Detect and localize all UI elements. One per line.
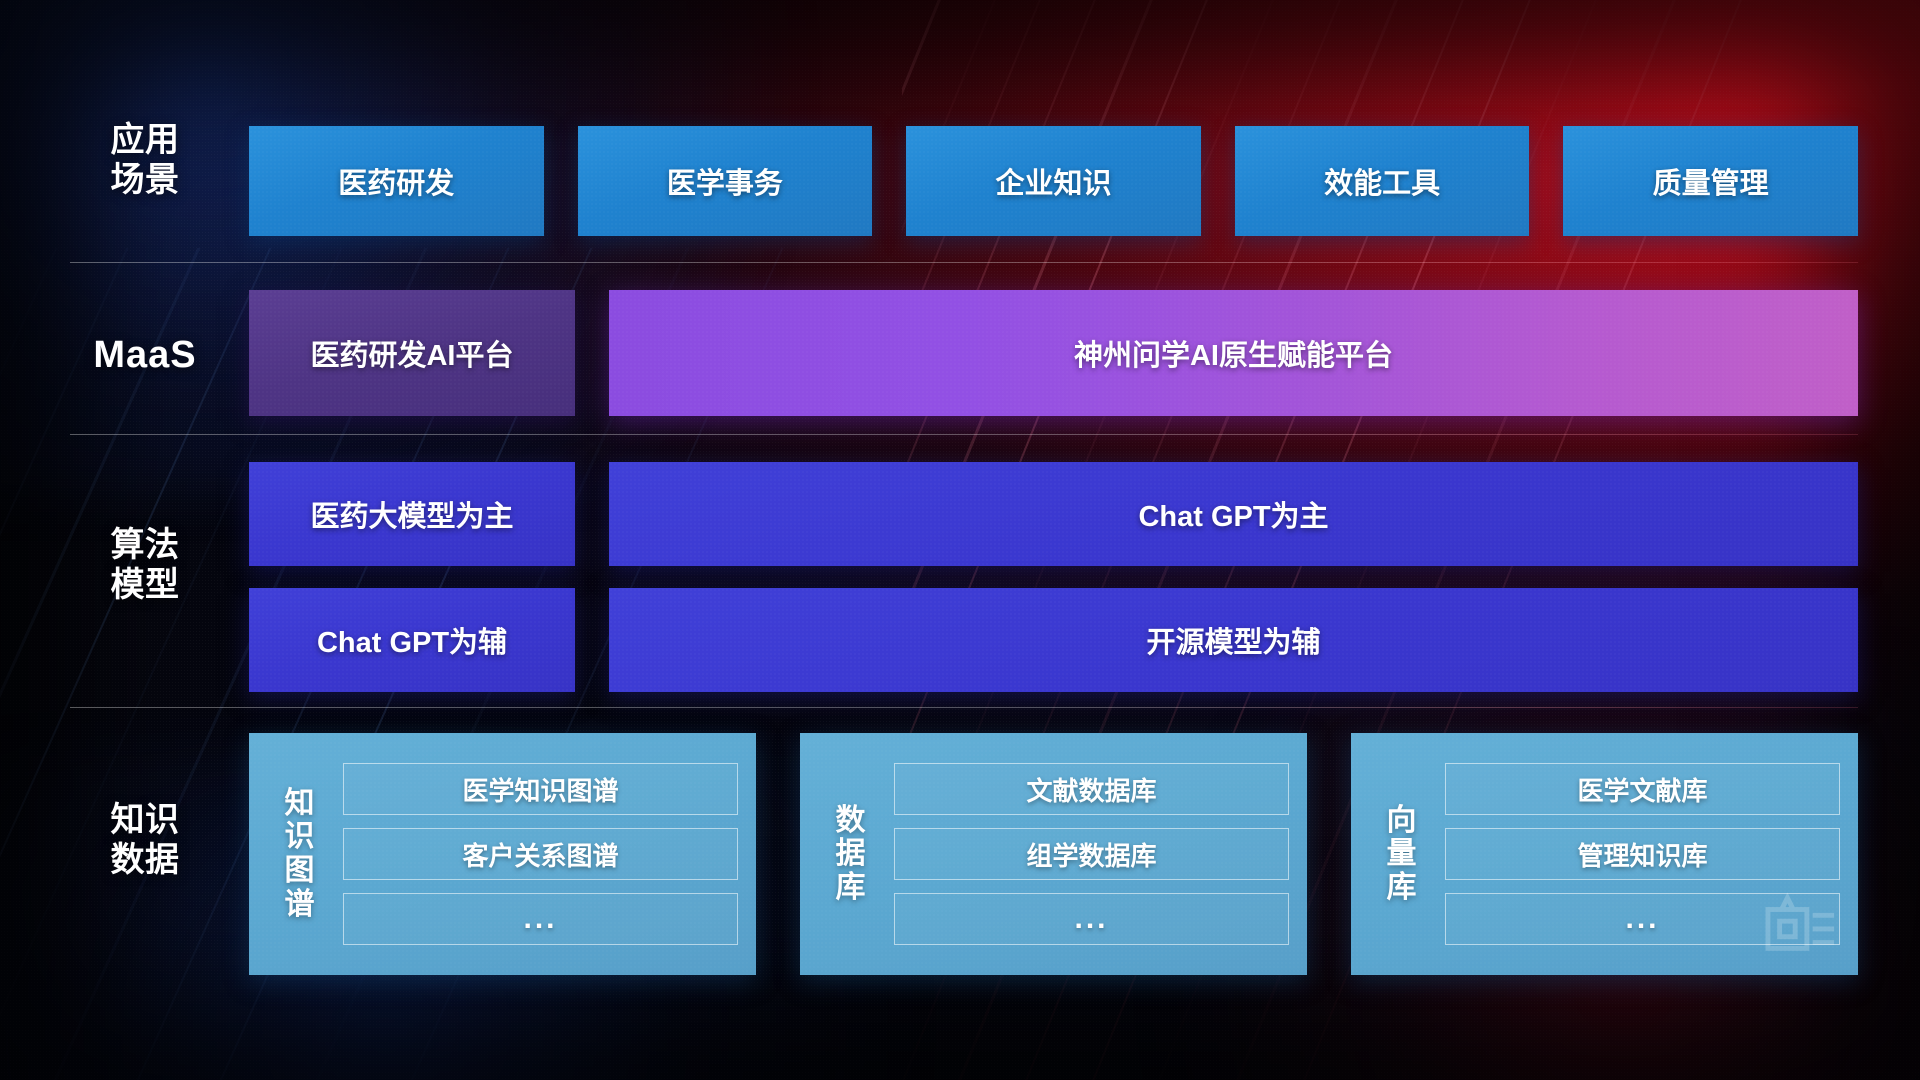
row-label-line1: 应用 <box>70 120 220 160</box>
row-label-line2: 模型 <box>70 565 220 605</box>
knowledge-item[interactable]: 医学知识图谱 <box>343 763 738 815</box>
knowledge-item-more[interactable]: ... <box>343 893 738 945</box>
algo-card-opensource-secondary[interactable]: 开源模型为辅 <box>609 588 1858 692</box>
knowledge-panel-items: 医学文献库 管理知识库 ... <box>1439 749 1840 959</box>
app-card-label: 质量管理 <box>1653 160 1769 202</box>
algorithm-models-line-primary: 医药大模型为主 Chat GPT为主 <box>249 462 1858 566</box>
architecture-diagram: 应用 场景 医药研发 医学事务 企业知识 效能工具 质量管理 MaaS 医药研发… <box>0 0 1920 1080</box>
algo-card-label: Chat GPT为主 <box>1138 493 1328 535</box>
knowledge-item[interactable]: 客户关系图谱 <box>343 828 738 880</box>
app-card-label: 企业知识 <box>995 160 1111 202</box>
row-label-knowledge-data: 知识 数据 <box>70 800 220 880</box>
knowledge-panel-category: 向量库 <box>1365 749 1439 959</box>
app-card-medicine-rnd[interactable]: 医药研发 <box>249 126 544 236</box>
algo-card-chatgpt-secondary[interactable]: Chat GPT为辅 <box>249 588 575 692</box>
maas-row: 医药研发AI平台 神州问学AI原生赋能平台 <box>249 290 1858 416</box>
knowledge-data-row: 知识图谱 医学知识图谱 客户关系图谱 ... 数据库 文献数据库 组学数据库 .… <box>249 733 1858 975</box>
app-card-quality-management[interactable]: 质量管理 <box>1563 126 1858 236</box>
knowledge-panel-items: 医学知识图谱 客户关系图谱 ... <box>337 749 738 959</box>
row-label-line1: 知识 <box>70 800 220 840</box>
row-label-application-scenarios: 应用 场景 <box>70 120 220 200</box>
algorithm-models-line-secondary: Chat GPT为辅 开源模型为辅 <box>249 588 1858 692</box>
maas-card-label: 神州问学AI原生赋能平台 <box>1074 332 1393 374</box>
application-scenarios-row: 医药研发 医学事务 企业知识 效能工具 质量管理 <box>249 126 1858 236</box>
app-card-label: 医药研发 <box>338 160 454 202</box>
maas-card-pharma-ai-platform[interactable]: 医药研发AI平台 <box>249 290 575 416</box>
algo-card-pharma-llm-primary[interactable]: 医药大模型为主 <box>249 462 575 566</box>
row-label-maas: MaaS <box>70 333 220 378</box>
row-label-line2: 场景 <box>70 160 220 200</box>
knowledge-item[interactable]: 文献数据库 <box>894 763 1289 815</box>
divider-after-maas <box>70 434 1858 435</box>
knowledge-panel-vector-store[interactable]: 向量库 医学文献库 管理知识库 ... <box>1351 733 1858 975</box>
row-label-line2: 数据 <box>70 840 220 880</box>
knowledge-panel-category: 数据库 <box>814 749 888 959</box>
row-label-text: MaaS <box>70 333 220 378</box>
app-card-label: 医学事务 <box>667 160 783 202</box>
algo-card-label: 开源模型为辅 <box>1146 619 1320 661</box>
divider-after-application-scenarios <box>70 262 1858 263</box>
algo-card-label: Chat GPT为辅 <box>317 619 507 661</box>
knowledge-panel-category: 知识图谱 <box>263 749 337 959</box>
algo-card-chatgpt-primary[interactable]: Chat GPT为主 <box>609 462 1858 566</box>
app-card-efficiency-tools[interactable]: 效能工具 <box>1235 126 1530 236</box>
divider-after-algorithm-models <box>70 707 1858 708</box>
app-card-label: 效能工具 <box>1324 160 1440 202</box>
knowledge-item[interactable]: 管理知识库 <box>1445 828 1840 880</box>
app-card-enterprise-knowledge[interactable]: 企业知识 <box>906 126 1201 236</box>
algo-card-label: 医药大模型为主 <box>310 493 513 535</box>
knowledge-panel-knowledge-graph[interactable]: 知识图谱 医学知识图谱 客户关系图谱 ... <box>249 733 756 975</box>
maas-card-shenzhou-wenxue-platform[interactable]: 神州问学AI原生赋能平台 <box>609 290 1858 416</box>
knowledge-item[interactable]: 组学数据库 <box>894 828 1289 880</box>
app-card-medical-affairs[interactable]: 医学事务 <box>578 126 873 236</box>
knowledge-panel-items: 文献数据库 组学数据库 ... <box>888 749 1289 959</box>
row-label-line1: 算法 <box>70 525 220 565</box>
row-label-algorithm-models: 算法 模型 <box>70 525 220 605</box>
algorithm-models-row: 医药大模型为主 Chat GPT为主 Chat GPT为辅 开源模型为辅 <box>249 462 1858 692</box>
knowledge-item[interactable]: 医学文献库 <box>1445 763 1840 815</box>
knowledge-panel-database[interactable]: 数据库 文献数据库 组学数据库 ... <box>800 733 1307 975</box>
knowledge-item-more[interactable]: ... <box>894 893 1289 945</box>
maas-card-label: 医药研发AI平台 <box>310 332 513 374</box>
knowledge-item-more[interactable]: ... <box>1445 893 1840 945</box>
